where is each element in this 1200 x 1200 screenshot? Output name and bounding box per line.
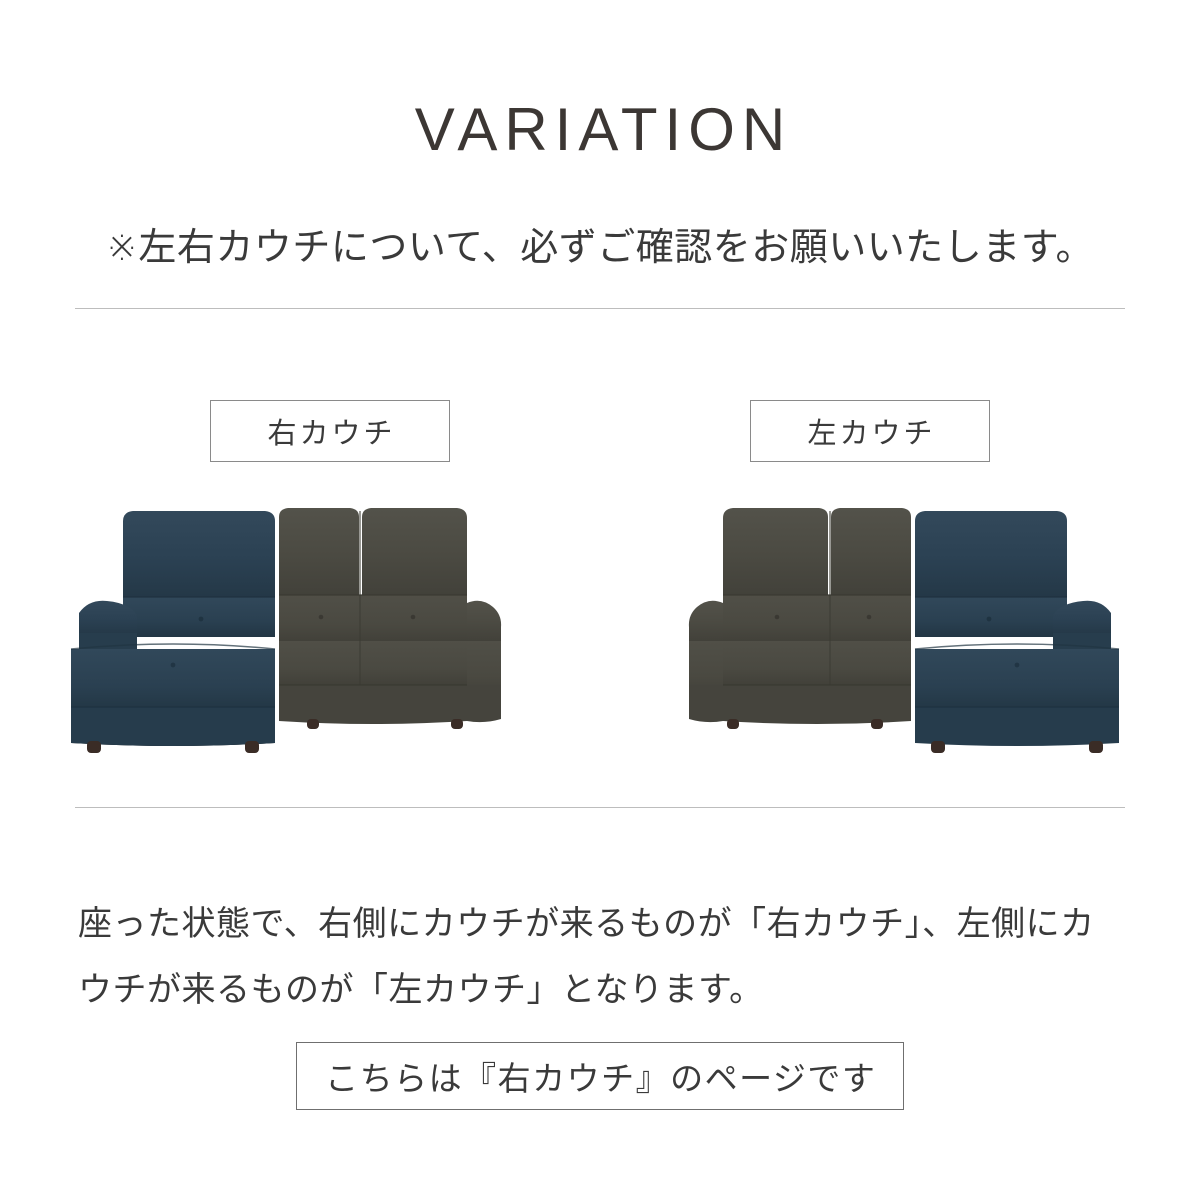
variation-description: 座った状態で、右側にカウチが来るものが「右カウチ」、左側にカウチが来るものが「左… [78,891,1128,1023]
variation-label-right-couch[interactable]: 右カウチ [210,400,450,462]
sofa-image-left-couch [615,495,1135,775]
variation-page: VARIATION ※左右カウチについて、必ずご確認をお願いいたします。 右カウ… [0,0,1200,1200]
sofa-image-right-couch [55,495,575,775]
page-title: VARIATION [0,94,1200,166]
divider-bottom [75,807,1125,808]
page-subtitle: ※左右カウチについて、必ずご確認をお願いいたします。 [0,222,1200,274]
divider-top [75,308,1125,309]
current-page-notice: こちらは『右カウチ』のページです [296,1042,904,1110]
variation-label-left-couch[interactable]: 左カウチ [750,400,990,462]
